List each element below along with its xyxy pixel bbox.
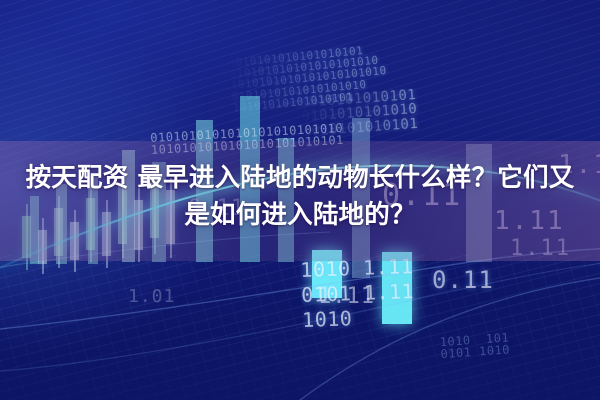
page-title: 按天配资 最早进入陆地的动物长什么样？它们又 是如何进入陆地的？ (0, 160, 600, 234)
decimal-label-6: 0.11 (432, 266, 494, 294)
headline-line-2: 是如何进入陆地的？ (12, 197, 588, 234)
lower-sweep-line-2 (0, 262, 600, 372)
banner-image: 1010101010101010101 01010101010101010101… (0, 0, 600, 400)
decimal-label-7: 1.11 (318, 284, 375, 309)
decimal-label-5: 1.01 (128, 286, 175, 307)
headline-line-1: 按天配资 最早进入陆地的动物长什么样？它们又 (26, 163, 575, 193)
